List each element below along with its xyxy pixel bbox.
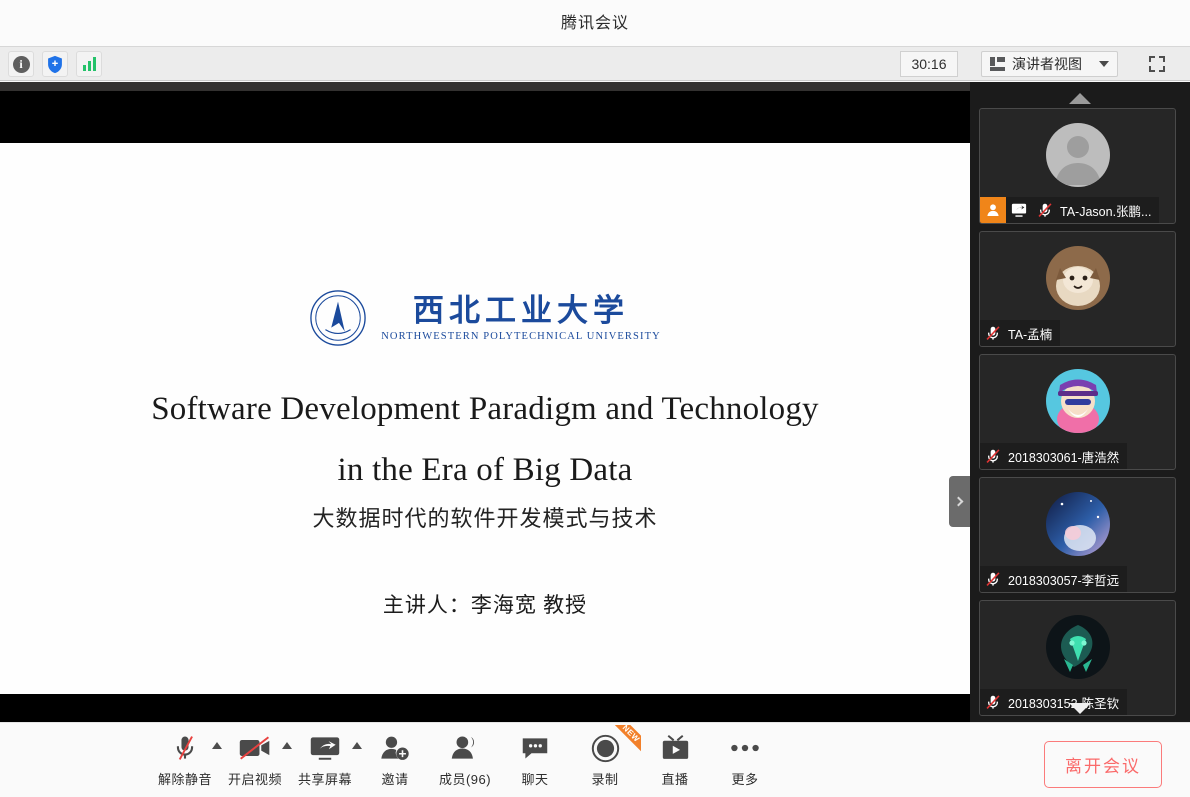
mic-muted-icon: [980, 443, 1006, 469]
mic-muted-icon: [980, 320, 1006, 346]
participant-label: 2018303061-唐浩然: [980, 443, 1127, 469]
logo-chinese-name: 西北工业大学: [413, 294, 629, 328]
control-button-label: 直播: [661, 769, 688, 788]
control-button-chat[interactable]: 聊天: [500, 723, 570, 797]
participant-label: 2018303152-陈圣钦: [980, 689, 1127, 715]
shared-screen-stage[interactable]: 西北工业大学 NORTHWESTERN POLYTECHNICAL UNIVER…: [0, 82, 970, 722]
slide-title-line2: in the Era of Big Data: [0, 440, 970, 501]
participant-name: 2018303061-唐浩然: [1006, 447, 1119, 466]
shield-icon: [46, 55, 64, 74]
camera-off-icon: [238, 732, 272, 764]
university-seal-icon: [309, 289, 367, 347]
meeting-control-bar: 解除静音开启视频共享屏幕邀请成员(96)聊天录制NEW直播更多 离开会议: [0, 722, 1190, 797]
participants-icon: [450, 732, 480, 764]
meeting-timer: 30:16: [900, 51, 958, 77]
host-badge-icon: [980, 197, 1006, 223]
control-button-label: 录制: [591, 769, 618, 788]
participant-tile[interactable]: TA-Jason.张鹏...: [979, 108, 1176, 224]
participant-tile[interactable]: 2018303061-唐浩然: [979, 354, 1176, 470]
avatar: [1046, 492, 1110, 556]
invite-icon: [380, 732, 410, 764]
signal-icon: [83, 57, 96, 71]
logo-english-name: NORTHWESTERN POLYTECHNICAL UNIVERSITY: [381, 331, 661, 342]
slide-subtitle: 大数据时代的软件开发模式与技术: [0, 501, 970, 533]
chevron-right-icon: [954, 497, 964, 507]
control-button-label: 邀请: [381, 769, 408, 788]
avatar: [1046, 615, 1110, 679]
participant-tile[interactable]: TA-孟楠: [979, 231, 1176, 347]
mic-muted-icon: [170, 732, 200, 764]
control-button-share-screen[interactable]: 共享屏幕: [290, 723, 360, 797]
control-button-more[interactable]: 更多: [710, 723, 780, 797]
network-status-button[interactable]: [76, 51, 102, 77]
control-button-label: 共享屏幕: [298, 769, 352, 788]
presentation-slide: 西北工业大学 NORTHWESTERN POLYTECHNICAL UNIVER…: [0, 143, 970, 694]
mic-muted-icon: [980, 689, 1006, 715]
mic-muted-icon: [1032, 197, 1058, 223]
control-button-camera-off[interactable]: 开启视频: [220, 723, 290, 797]
share-screen-icon: [309, 732, 341, 764]
control-buttons: 解除静音开启视频共享屏幕邀请成员(96)聊天录制NEW直播更多: [150, 723, 780, 797]
control-button-label: 更多: [731, 769, 758, 788]
participant-name: 2018303057-李哲远: [1006, 570, 1119, 589]
info-icon: i: [13, 56, 30, 73]
slide-title-line1: Software Development Paradigm and Techno…: [0, 379, 970, 440]
view-mode-dropdown[interactable]: 演讲者视图: [981, 51, 1118, 77]
control-button-invite[interactable]: 邀请: [360, 723, 430, 797]
speaker-view-icon: [990, 57, 1005, 71]
screen-share-icon: [1006, 197, 1032, 223]
participant-tile[interactable]: 2018303057-李哲远: [979, 477, 1176, 593]
participant-tile[interactable]: 2018303152-陈圣钦: [979, 600, 1176, 716]
control-button-participants[interactable]: 成员(96): [430, 723, 500, 797]
view-mode-label: 演讲者视图: [1012, 54, 1082, 74]
control-button-label: 聊天: [521, 769, 548, 788]
meeting-toolbar: i 30:16 演讲者视图: [0, 47, 1190, 81]
window-title: 腾讯会议: [0, 0, 1190, 47]
new-badge: NEW: [611, 725, 641, 755]
participant-label: TA-孟楠: [980, 320, 1060, 346]
filmstrip-scroll-down-icon[interactable]: [1069, 703, 1091, 714]
control-button-live[interactable]: 直播: [640, 723, 710, 797]
slide-presenter: 主讲人：李海宽 教授: [0, 589, 970, 619]
avatar: [1046, 123, 1110, 187]
fullscreen-icon: [1149, 56, 1165, 72]
meeting-info-button[interactable]: i: [8, 51, 34, 77]
avatar: [1046, 369, 1110, 433]
control-button-label: 开启视频: [228, 769, 282, 788]
participant-name: TA-孟楠: [1006, 324, 1052, 343]
control-button-record[interactable]: 录制NEW: [570, 723, 640, 797]
participant-name: TA-Jason.张鹏...: [1058, 201, 1151, 220]
filmstrip-scroll-up-icon[interactable]: [1069, 93, 1091, 104]
participant-filmstrip: TA-Jason.张鹏...TA-孟楠2018303061-唐浩然2018303…: [970, 82, 1190, 722]
window-titlebar: 腾讯会议: [0, 0, 1190, 47]
slide-title: Software Development Paradigm and Techno…: [0, 379, 970, 501]
avatar: [1046, 246, 1110, 310]
leave-meeting-button[interactable]: 离开会议: [1044, 741, 1162, 788]
mic-muted-icon: [980, 566, 1006, 592]
security-button[interactable]: [42, 51, 68, 77]
control-button-label: 成员(96): [439, 769, 491, 788]
university-logo: 西北工业大学 NORTHWESTERN POLYTECHNICAL UNIVER…: [0, 289, 970, 347]
stage-top-strip: [0, 82, 970, 91]
fullscreen-button[interactable]: [1142, 51, 1172, 77]
tencent-meeting-window: 腾讯会议 i 30:16 演讲者视图: [0, 0, 1190, 797]
collapse-filmstrip-handle[interactable]: [949, 476, 970, 527]
more-icon: [730, 732, 760, 764]
control-button-label: 解除静音: [158, 769, 212, 788]
control-button-mic-muted[interactable]: 解除静音: [150, 723, 220, 797]
participant-label: TA-Jason.张鹏...: [980, 197, 1159, 223]
live-icon: [661, 732, 690, 764]
chevron-down-icon: [1099, 61, 1109, 67]
participant-name: 2018303152-陈圣钦: [1006, 693, 1119, 712]
participant-label: 2018303057-李哲远: [980, 566, 1127, 592]
participant-tiles[interactable]: TA-Jason.张鹏...TA-孟楠2018303061-唐浩然2018303…: [970, 108, 1183, 716]
chat-icon: [521, 732, 549, 764]
slide-footer: 2021.5.15 · 西北工业大学 软件学院: [0, 691, 970, 694]
